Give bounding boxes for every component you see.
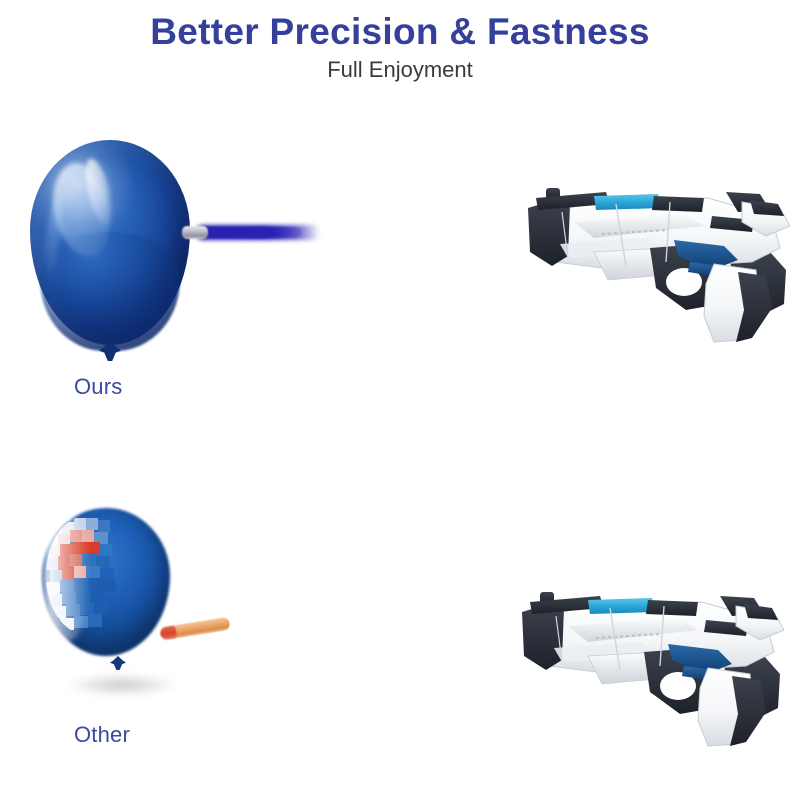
page-title: Better Precision & Fastness — [0, 12, 800, 53]
balloon-ours — [30, 140, 190, 365]
blaster-artwork-other — [522, 592, 784, 746]
dart-core — [198, 227, 302, 238]
foam-dart-shaft — [167, 617, 230, 640]
dart-streak-ours — [182, 224, 320, 242]
balloon-body-sharp — [30, 140, 190, 345]
balloon-soft-edge — [44, 512, 90, 642]
row-label-other: Other — [74, 722, 130, 748]
page-subtitle: Full Enjoyment — [0, 57, 800, 83]
row-label-ours: Ours — [74, 374, 122, 400]
blaster-other — [492, 556, 792, 756]
dart-tip — [182, 226, 208, 239]
foam-dart-tip — [159, 625, 177, 640]
promo-comparison-page: Better Precision & Fastness Full Enjoyme… — [0, 0, 800, 800]
blaster-artwork — [528, 188, 790, 342]
balloon-other-shadow — [52, 672, 192, 698]
blaster-ours — [498, 152, 798, 352]
balloon-other — [52, 512, 184, 672]
